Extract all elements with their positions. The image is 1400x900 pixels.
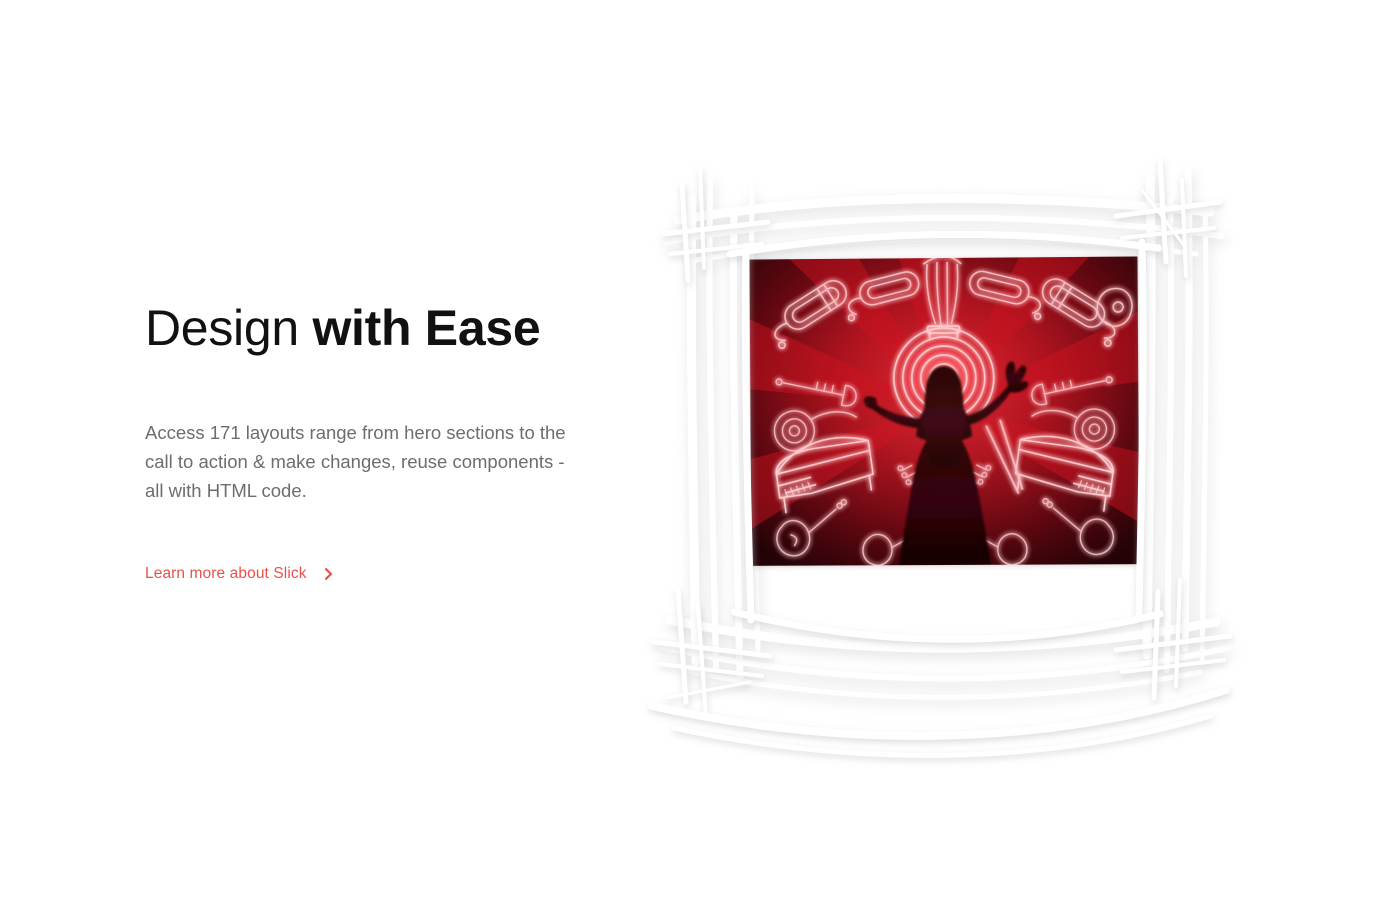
hero-copy-block: Design with Ease Access 171 layouts rang…: [145, 300, 615, 356]
hero-description: Access 171 layouts range from hero secti…: [145, 418, 581, 505]
page-title-bold: with Ease: [312, 300, 540, 356]
hero-section: Design with Ease Access 171 layouts rang…: [0, 0, 1400, 900]
learn-more-link[interactable]: Learn more about Slick: [145, 565, 335, 583]
framed-media: [630, 150, 1250, 750]
chevron-right-icon: [323, 567, 335, 581]
page-title-light: Design: [145, 300, 312, 356]
page-title: Design with Ease: [145, 300, 615, 356]
sketch-frame-over: [630, 150, 1250, 750]
learn-more-label: Learn more about Slick: [145, 565, 307, 583]
